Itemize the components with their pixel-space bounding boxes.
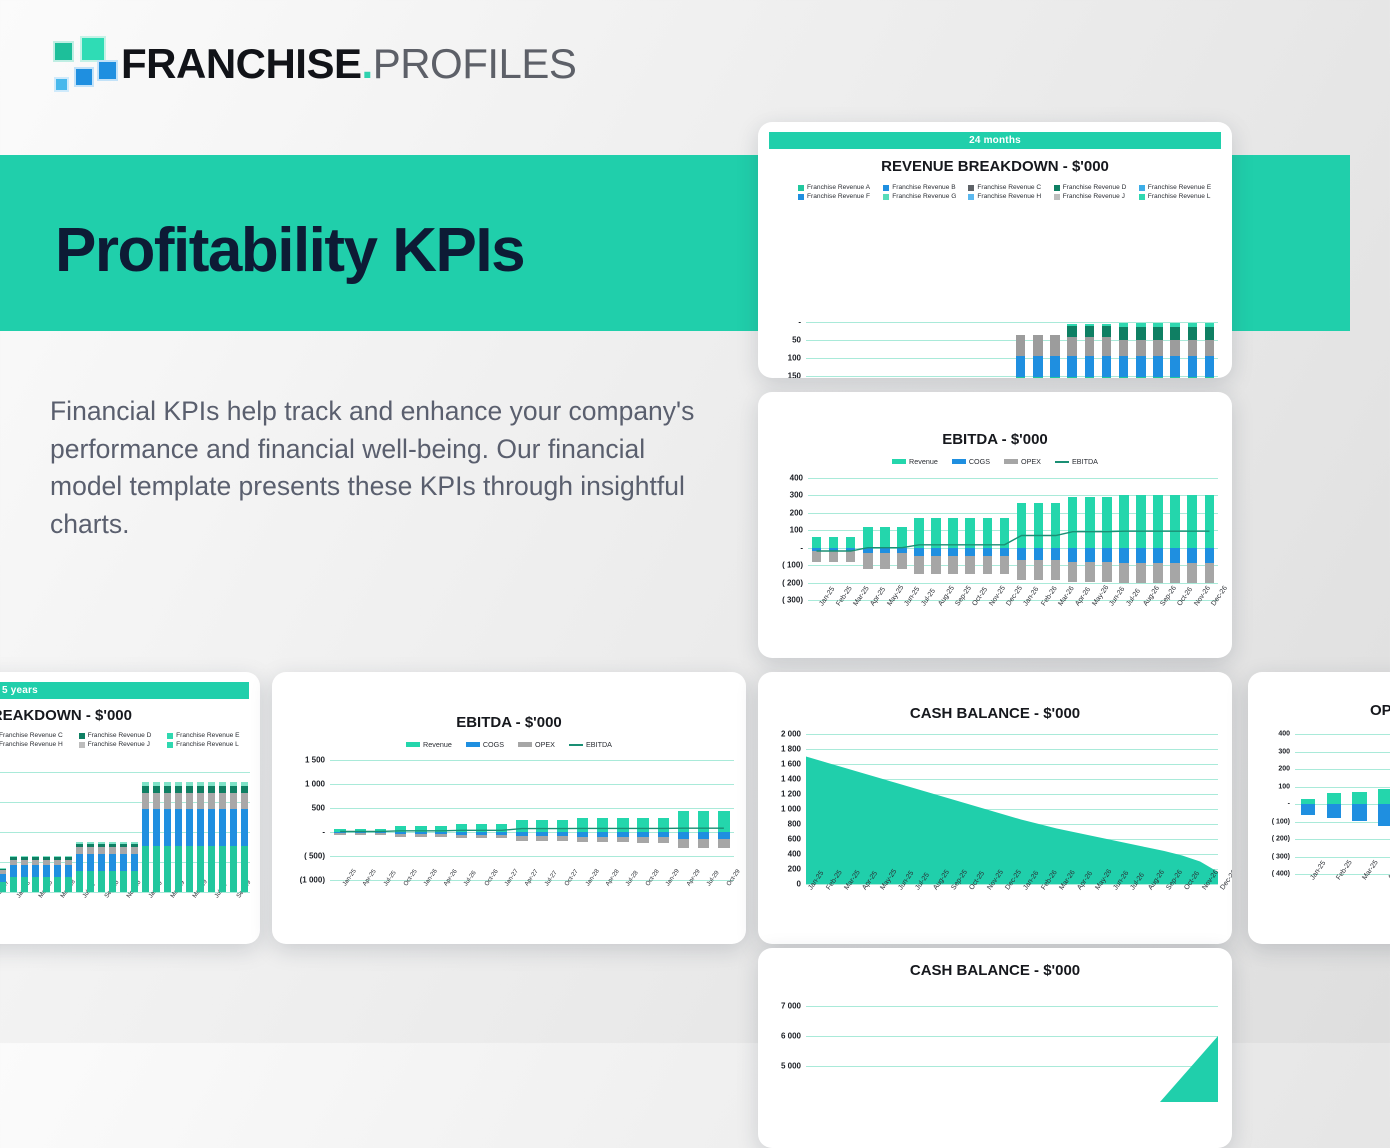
bar-column: Jan-26 bbox=[1012, 322, 1029, 378]
legend-item: Franchise Revenue C bbox=[0, 731, 73, 740]
card-cash-balance-5y[interactable]: CASH BALANCE - $'000 7 0006 0005 000 bbox=[758, 948, 1232, 1148]
plot-cash-5y: 7 0006 0005 000 bbox=[806, 992, 1218, 1102]
bar-segment bbox=[1119, 356, 1129, 377]
bar-segment bbox=[1301, 804, 1315, 815]
bar-segment bbox=[1153, 323, 1163, 327]
bar-column: Jan-29 bbox=[140, 772, 151, 892]
bar-segment bbox=[1085, 356, 1095, 377]
bar-segment bbox=[208, 846, 214, 892]
y-axis-tick: 1 200 bbox=[781, 790, 806, 799]
bar-segment bbox=[1153, 340, 1163, 356]
bar-segment bbox=[230, 809, 236, 845]
legend-item: Franchise Revenue D bbox=[1048, 183, 1133, 192]
bar-segment bbox=[131, 871, 137, 892]
y-axis-tick: 800 bbox=[788, 820, 806, 829]
bar-column: Apr-25 bbox=[1373, 734, 1390, 874]
bar-segment bbox=[1067, 337, 1077, 356]
bar-column: Nov-28 bbox=[118, 772, 129, 892]
bar-segment bbox=[109, 871, 115, 892]
bar-segment bbox=[1205, 356, 1215, 377]
bar-segment bbox=[1067, 377, 1077, 378]
bar-segment bbox=[1378, 789, 1390, 804]
legend-item: Franchise Revenue L bbox=[161, 740, 250, 749]
y-axis-tick: ( 100) bbox=[1272, 818, 1295, 825]
y-axis-tick: 300 bbox=[790, 491, 808, 500]
y-axis-tick: 2 000 bbox=[781, 730, 806, 739]
bar-segment bbox=[164, 846, 170, 892]
bar-column: Feb-26 bbox=[1029, 322, 1046, 378]
bar-segment bbox=[208, 786, 214, 793]
brand-logo: FRANCHISE.PROFILES bbox=[47, 36, 576, 92]
bar-segment bbox=[1188, 327, 1198, 340]
y-axis-tick: 100 bbox=[788, 353, 806, 362]
bar-column: Feb-25 bbox=[823, 322, 840, 378]
bar-column bbox=[0, 772, 8, 892]
bar-segment bbox=[175, 786, 181, 793]
bar-segment bbox=[1033, 335, 1043, 356]
bar-segment bbox=[186, 809, 192, 845]
bar-segment bbox=[0, 882, 6, 892]
y-axis-tick: - bbox=[322, 828, 330, 837]
y-axis-tick: 200 bbox=[790, 508, 808, 517]
bar-segment bbox=[1016, 377, 1026, 378]
legend-ebitda-5y: Revenue COGS OPEX EBITDA bbox=[272, 740, 746, 749]
bar-column: May-29 bbox=[184, 772, 195, 892]
bar-segment bbox=[186, 846, 192, 892]
bar-segment bbox=[1136, 327, 1146, 340]
bar-segment bbox=[65, 877, 71, 892]
bar-segment bbox=[1170, 327, 1180, 340]
plot-ebitda-24m: 400300200100-( 100)( 200)( 300)Jan-25Feb… bbox=[808, 478, 1218, 600]
bar-column: May-26 bbox=[1081, 322, 1098, 378]
bar-column: Mar-26 bbox=[1046, 322, 1063, 378]
y-axis-tick: 7 000 bbox=[781, 1002, 806, 1011]
legend-item: EBITDA bbox=[1055, 457, 1098, 466]
cash-area bbox=[806, 992, 1218, 1102]
bar-segment bbox=[1102, 324, 1112, 326]
card-ebitda-5y[interactable]: EBITDA - $'000 Revenue COGS OPEX EBITDA … bbox=[272, 672, 746, 944]
legend-item: Franchise Revenue D bbox=[73, 731, 162, 740]
card-title-cash-5y: CASH BALANCE - $'000 bbox=[758, 962, 1232, 979]
bar-segment bbox=[1170, 340, 1180, 356]
plot-opex: 400300200100-( 100)( 200)( 300)( 400)Jan… bbox=[1295, 734, 1390, 874]
bar-column: Oct-25 bbox=[961, 322, 978, 378]
legend-item: EBITDA bbox=[569, 740, 612, 749]
y-axis-tick: 1 500 bbox=[305, 756, 330, 765]
bar-segment bbox=[1085, 377, 1095, 378]
bar-column bbox=[63, 772, 74, 892]
bar-segment bbox=[1119, 323, 1129, 327]
bar-segment bbox=[241, 846, 247, 892]
bar-segment bbox=[1016, 356, 1026, 377]
bar-segment bbox=[197, 793, 203, 810]
bar-segment bbox=[1067, 324, 1077, 326]
bar-column: Apr-26 bbox=[1064, 322, 1081, 378]
bar-column: Dec-26 bbox=[1201, 322, 1218, 378]
bar-segment bbox=[230, 786, 236, 793]
y-axis-tick: (1 000) bbox=[300, 876, 330, 885]
y-axis-tick: 0 bbox=[797, 880, 806, 889]
bar-column: Jul-29 bbox=[206, 772, 217, 892]
plot-cash-24m: 2 0001 8001 6001 4001 2001 0008006004002… bbox=[806, 734, 1218, 884]
y-axis-tick: ( 400) bbox=[1272, 871, 1295, 878]
legend-ebitda-24m: Revenue COGS OPEX EBITDA bbox=[758, 457, 1232, 466]
bar-segment bbox=[1102, 377, 1112, 378]
bar-column: Mar-29 bbox=[162, 772, 173, 892]
bar-segment bbox=[1067, 326, 1077, 337]
plot-revenue-24m: -50100150200250300350Jan-25Feb-25Mar-25A… bbox=[806, 322, 1218, 378]
bar-segment bbox=[120, 847, 126, 855]
bar-segment bbox=[87, 847, 93, 855]
bar-segment bbox=[1136, 356, 1146, 377]
bar-segment bbox=[164, 809, 170, 845]
y-axis-tick: ( 300) bbox=[1272, 853, 1295, 860]
y-axis-tick: 600 bbox=[788, 835, 806, 844]
bar-segment bbox=[1352, 804, 1366, 821]
x-axis-tick: Dec-26 bbox=[1219, 869, 1232, 892]
bar-segment bbox=[153, 809, 159, 845]
bar-segment bbox=[1170, 323, 1180, 327]
y-axis-tick: 1 000 bbox=[781, 805, 806, 814]
bar-column: Jul-25 bbox=[909, 322, 926, 378]
bar-column: Jun-26 bbox=[1098, 322, 1115, 378]
bar-column: Jan-25 bbox=[806, 322, 823, 378]
legend-item: Franchise Revenue B bbox=[877, 183, 962, 192]
bar-segment bbox=[153, 846, 159, 892]
legend-item: Franchise Revenue F bbox=[792, 192, 877, 201]
bar-segment bbox=[65, 865, 71, 877]
bar-segment bbox=[1170, 377, 1180, 378]
y-axis-tick: 1 800 bbox=[781, 745, 806, 754]
bar-segment bbox=[1050, 335, 1060, 356]
bar-column: Oct-26 bbox=[1167, 322, 1184, 378]
bar-column: Sep-29 bbox=[228, 772, 239, 892]
legend-item: Franchise Revenue H bbox=[0, 740, 73, 749]
legend-item: Franchise Revenue J bbox=[73, 740, 162, 749]
bar-segment bbox=[1153, 356, 1163, 377]
y-axis-tick: 5 000 bbox=[781, 1062, 806, 1071]
y-axis-tick: 300 bbox=[1278, 748, 1295, 755]
ebitda-line bbox=[808, 478, 1218, 600]
y-axis-tick: 1 600 bbox=[781, 760, 806, 769]
bar-segment bbox=[120, 854, 126, 871]
card-title-opex: OPE bbox=[1248, 702, 1390, 719]
bar-segment bbox=[241, 786, 247, 793]
legend-item: Revenue bbox=[406, 740, 452, 749]
y-axis-tick: ( 100) bbox=[782, 561, 808, 570]
bar-column bbox=[217, 772, 228, 892]
bar-column: Jun-25 bbox=[892, 322, 909, 378]
bar-segment bbox=[142, 846, 148, 892]
y-axis-tick: 150 bbox=[788, 371, 806, 378]
card-banner-5-years: 5 years bbox=[0, 682, 249, 699]
bar-column: Sep-26 bbox=[1149, 322, 1166, 378]
bar-segment bbox=[1085, 324, 1095, 326]
hero-paragraph: Financial KPIs help track and enhance yo… bbox=[50, 393, 710, 543]
bar-segment bbox=[186, 793, 192, 810]
y-axis-tick: 100 bbox=[1278, 783, 1295, 790]
bar-segment bbox=[1378, 804, 1390, 826]
y-axis-tick: - bbox=[800, 543, 808, 552]
y-axis-tick: 400 bbox=[1278, 731, 1295, 738]
bar-segment bbox=[230, 793, 236, 810]
bar-segment bbox=[1170, 356, 1180, 377]
bar-column: Jan-25 bbox=[1295, 734, 1321, 874]
bar-segment bbox=[1205, 340, 1215, 356]
bar-segment bbox=[1352, 792, 1366, 804]
y-axis-tick: ( 500) bbox=[304, 852, 330, 861]
y-axis-tick: 50 bbox=[792, 335, 806, 344]
bar-column: Sep-25 bbox=[943, 322, 960, 378]
y-axis-tick: - bbox=[1288, 801, 1295, 808]
bar-segment bbox=[1102, 326, 1112, 337]
bar-segment bbox=[21, 865, 27, 877]
card-title-cash-24m: CASH BALANCE - $'000 bbox=[758, 705, 1232, 722]
bar-column: Jul-28 bbox=[74, 772, 85, 892]
bar-segment bbox=[1188, 377, 1198, 378]
bar-column: Aug-26 bbox=[1132, 322, 1149, 378]
bar-segment bbox=[1153, 327, 1163, 340]
bar-segment bbox=[1327, 793, 1341, 804]
bar-segment bbox=[175, 846, 181, 892]
bar-column: Nov-25 bbox=[978, 322, 995, 378]
bar-segment bbox=[43, 877, 49, 892]
card-revenue-breakdown-5y[interactable]: 5 years REAKDOWN - $'000 Franchise Reven… bbox=[0, 672, 260, 944]
card-title-ebitda-5y: EBITDA - $'000 bbox=[272, 714, 746, 731]
bar-segment bbox=[21, 877, 27, 892]
bar-segment bbox=[1085, 337, 1095, 356]
legend-item: Franchise Revenue G bbox=[877, 192, 962, 201]
bar-segment bbox=[1102, 337, 1112, 356]
bar-segment bbox=[164, 786, 170, 793]
bar-segment bbox=[98, 854, 104, 871]
bar-segment bbox=[153, 786, 159, 793]
bar-segment bbox=[1016, 335, 1026, 356]
bar-segment bbox=[197, 786, 203, 793]
legend-item: Franchise Revenue L bbox=[1133, 192, 1218, 201]
bar-segment bbox=[1136, 340, 1146, 356]
bar-segment bbox=[219, 846, 225, 892]
ebitda-line bbox=[330, 760, 734, 880]
bar-segment bbox=[1153, 377, 1163, 378]
plot-revenue-5y: Mar-27May-27Jul-27Sep-27Nov-27Jan-28Mar-… bbox=[0, 772, 250, 892]
bar-segment bbox=[76, 854, 82, 871]
bar-column bbox=[151, 772, 162, 892]
bar-segment bbox=[1119, 377, 1129, 378]
bar-segment bbox=[241, 809, 247, 845]
bar-column: Mar-28 bbox=[30, 772, 41, 892]
cash-area bbox=[806, 734, 1218, 884]
bar-segment bbox=[164, 793, 170, 810]
plot-ebitda-5y: 1 5001 000500-( 500)(1 000)Jan-25Apr-25J… bbox=[330, 760, 734, 880]
bar-segment bbox=[197, 809, 203, 845]
bar-segment bbox=[186, 786, 192, 793]
legend-item: OPEX bbox=[518, 740, 555, 749]
bar-segment bbox=[54, 865, 60, 877]
card-revenue-breakdown-24m[interactable]: 24 months REVENUE BREAKDOWN - $'000 Fran… bbox=[758, 122, 1232, 378]
bar-segment bbox=[1085, 326, 1095, 337]
card-title-revenue-24m: REVENUE BREAKDOWN - $'000 bbox=[758, 158, 1232, 175]
bar-segment bbox=[1327, 804, 1341, 818]
bar-segment bbox=[98, 847, 104, 855]
bar-segment bbox=[1050, 377, 1060, 378]
y-axis-tick: ( 200) bbox=[782, 578, 808, 587]
legend-item: Franchise Revenue J bbox=[1048, 192, 1133, 201]
y-axis-tick: 200 bbox=[1278, 766, 1295, 773]
brand-name-light: PROFILES bbox=[373, 40, 577, 87]
legend-item: COGS bbox=[952, 457, 990, 466]
bar-segment bbox=[1188, 340, 1198, 356]
bar-segment bbox=[0, 874, 6, 882]
legend-item: Franchise Revenue E bbox=[1133, 183, 1218, 192]
bar-segment bbox=[175, 793, 181, 810]
legend-item: Franchise Revenue H bbox=[962, 192, 1047, 201]
bar-segment bbox=[10, 877, 16, 892]
bar-segment bbox=[109, 854, 115, 871]
bar-column: Jan-28 bbox=[8, 772, 19, 892]
bar-segment bbox=[32, 865, 38, 877]
bar-segment bbox=[230, 846, 236, 892]
bar-segment bbox=[131, 854, 137, 871]
bar-segment bbox=[219, 809, 225, 845]
bar-segment bbox=[1050, 356, 1060, 377]
bar-column: Aug-25 bbox=[926, 322, 943, 378]
bar-segment bbox=[1136, 377, 1146, 378]
bar-segment bbox=[1188, 356, 1198, 377]
bar-segment bbox=[109, 847, 115, 855]
bar-column: Mar-25 bbox=[1347, 734, 1373, 874]
y-axis-tick: 400 bbox=[788, 850, 806, 859]
y-axis-tick: 200 bbox=[788, 865, 806, 874]
bar-segment bbox=[10, 865, 16, 877]
bar-segment bbox=[98, 871, 104, 892]
legend-item: OPEX bbox=[1004, 457, 1041, 466]
bar-segment bbox=[1033, 356, 1043, 377]
bar-segment bbox=[1119, 340, 1129, 356]
legend-revenue-5y: Franchise Revenue C Franchise Revenue D … bbox=[0, 731, 250, 749]
bar-segment bbox=[131, 847, 137, 855]
bar-segment bbox=[1119, 327, 1129, 340]
y-axis-tick: 1 400 bbox=[781, 775, 806, 784]
bar-segment bbox=[1205, 327, 1215, 340]
bar-column bbox=[129, 772, 140, 892]
card-banner-24-months: 24 months bbox=[769, 132, 1221, 149]
legend-item: COGS bbox=[466, 740, 504, 749]
card-title-ebitda-24m: EBITDA - $'000 bbox=[758, 431, 1232, 448]
bar-segment bbox=[153, 793, 159, 810]
bar-segment bbox=[142, 793, 148, 810]
bar-column bbox=[173, 772, 184, 892]
page-title: Profitability KPIs bbox=[55, 215, 524, 286]
bar-column: Feb-25 bbox=[1321, 734, 1347, 874]
legend-item: Revenue bbox=[892, 457, 938, 466]
card-cash-balance-24m[interactable]: CASH BALANCE - $'000 2 0001 8001 6001 40… bbox=[758, 672, 1232, 944]
bar-column: Dec-25 bbox=[995, 322, 1012, 378]
bar-column: Nov-26 bbox=[1184, 322, 1201, 378]
bar-segment bbox=[54, 877, 60, 892]
y-axis-tick: - bbox=[798, 318, 806, 327]
y-axis-tick: 1 000 bbox=[305, 780, 330, 789]
bar-segment bbox=[43, 865, 49, 877]
bar-column: Jul-26 bbox=[1115, 322, 1132, 378]
bar-segment bbox=[197, 846, 203, 892]
y-axis-tick: ( 300) bbox=[782, 596, 808, 605]
bar-segment bbox=[175, 809, 181, 845]
bar-segment bbox=[1136, 323, 1146, 327]
card-title-revenue-5y: REAKDOWN - $'000 bbox=[0, 707, 260, 724]
bar-column: Mar-25 bbox=[840, 322, 857, 378]
brand-wordmark: FRANCHISE.PROFILES bbox=[121, 43, 576, 85]
bar-segment bbox=[76, 847, 82, 855]
y-axis-tick: 100 bbox=[790, 526, 808, 535]
bar-segment bbox=[1033, 377, 1043, 378]
bar-segment bbox=[76, 871, 82, 892]
legend-item: Franchise Revenue A bbox=[792, 183, 877, 192]
bar-segment bbox=[142, 809, 148, 845]
bar-segment bbox=[1102, 356, 1112, 377]
bar-column: May-25 bbox=[875, 322, 892, 378]
bar-segment bbox=[208, 793, 214, 810]
card-ebitda-24m[interactable]: EBITDA - $'000 Revenue COGS OPEX EBITDA … bbox=[758, 392, 1232, 658]
brand-name-bold: FRANCHISE bbox=[121, 40, 362, 87]
bar-segment bbox=[219, 786, 225, 793]
bar-column bbox=[41, 772, 52, 892]
legend-item: Franchise Revenue C bbox=[962, 183, 1047, 192]
bar-segment bbox=[120, 871, 126, 892]
y-axis-tick: 500 bbox=[312, 804, 330, 813]
bar-segment bbox=[1205, 323, 1215, 327]
bar-segment bbox=[219, 793, 225, 810]
logo-mark-icon bbox=[47, 36, 113, 92]
bar-column: May-28 bbox=[52, 772, 63, 892]
bar-segment bbox=[142, 786, 148, 793]
y-axis-tick: 400 bbox=[790, 474, 808, 483]
legend-revenue-24m: Franchise Revenue A Franchise Revenue B … bbox=[792, 183, 1218, 201]
bar-column: Sep-28 bbox=[96, 772, 107, 892]
bar-segment bbox=[1188, 323, 1198, 327]
bar-segment bbox=[1205, 377, 1215, 378]
bar-column bbox=[107, 772, 118, 892]
y-axis-tick: ( 200) bbox=[1272, 836, 1295, 843]
card-opex[interactable]: OPE 400300200100-( 100)( 200)( 300)( 400… bbox=[1248, 672, 1390, 944]
legend-item: Franchise Revenue E bbox=[161, 731, 250, 740]
bar-segment bbox=[1067, 356, 1077, 377]
bar-segment bbox=[87, 854, 93, 871]
bar-segment bbox=[208, 809, 214, 845]
bar-column: Apr-25 bbox=[858, 322, 875, 378]
bar-segment bbox=[32, 877, 38, 892]
bar-column bbox=[85, 772, 96, 892]
y-axis-tick: 6 000 bbox=[781, 1032, 806, 1041]
bar-column bbox=[239, 772, 250, 892]
bar-segment bbox=[87, 871, 93, 892]
bar-segment bbox=[241, 793, 247, 810]
bar-column bbox=[195, 772, 206, 892]
bar-column bbox=[19, 772, 30, 892]
brand-name-dot: . bbox=[362, 40, 373, 87]
